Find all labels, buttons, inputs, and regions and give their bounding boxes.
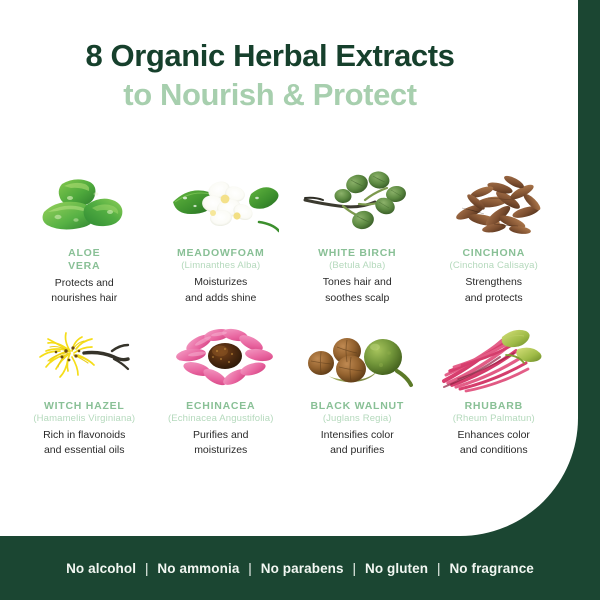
ingredient-card-rhubarb: RHUBARB (Rheum Palmatun) Enhances color … (426, 321, 563, 459)
page-title: 8 Organic Herbal Extracts to Nourish & P… (0, 38, 540, 113)
ingredient-grid: ALOE VERA Protects and nourishes hair (16, 168, 562, 459)
ingredient-benefit: Protects and nourishes hair (51, 276, 117, 306)
claim-separator: | (348, 561, 362, 576)
ingredient-row: WITCH HAZEL (Hamamelis Virginiana) Rich … (16, 321, 562, 459)
ingredient-card-echinacea: ECHINACEA (Echinacea Angustifolia) Purif… (153, 321, 290, 459)
meadowfoam-flower-image (163, 168, 279, 242)
ingredient-benefit-line1: Enhances color (458, 429, 530, 441)
ingredient-benefit-line1: Moisturizes (194, 276, 247, 288)
ingredient-benefit-line1: Purifies and (193, 429, 248, 441)
ingredient-card-witch-hazel: WITCH HAZEL (Hamamelis Virginiana) Rich … (16, 321, 153, 459)
ingredient-benefit-line2: and essential oils (44, 444, 125, 456)
ingredient-card-black-walnut: BLACK WALNUT (Juglans Regia) Intensifies… (289, 321, 426, 459)
ingredient-latin-name: (Limnanthes Alba) (181, 260, 260, 272)
ingredient-benefit: Intensifies color and purifies (321, 428, 394, 458)
ingredient-row: ALOE VERA Protects and nourishes hair (16, 168, 562, 307)
ingredient-benefit-line2: nourishes hair (51, 292, 117, 304)
ingredient-name: ECHINACEA (186, 400, 255, 413)
ingredient-name: BLACK WALNUT (310, 400, 404, 413)
ingredient-latin-name: (Echinacea Angustifolia) (168, 413, 274, 425)
echinacea-flower-image (163, 321, 279, 395)
ingredient-benefit: Purifies and moisturizes (193, 428, 248, 458)
ingredient-latin-name: (Betula Alba) (329, 260, 385, 272)
ingredient-name-line1: ALOE (68, 247, 100, 259)
ingredient-card-cinchona: CINCHONA (Cinchona Calisaya) Strengthens… (426, 168, 563, 307)
ingredient-benefit-line1: Protects and (55, 277, 114, 289)
claim-separator: | (432, 561, 446, 576)
content-card: 8 Organic Herbal Extracts to Nourish & P… (0, 0, 578, 536)
claim-no-alcohol: No alcohol (66, 561, 136, 576)
ingredient-name: WHITE BIRCH (318, 247, 396, 260)
black-walnut-image (299, 321, 415, 395)
footer-band: No alcohol | No ammonia | No parabens | … (0, 536, 600, 600)
ingredient-card-white-birch: WHITE BIRCH (Betula Alba) Tones hair and… (289, 168, 426, 307)
ingredient-card-aloe-vera: ALOE VERA Protects and nourishes hair (16, 168, 153, 307)
ingredient-benefit-line2: and conditions (460, 444, 528, 456)
cinchona-bark-image (436, 168, 552, 242)
ingredient-benefit-line2: and adds shine (185, 292, 256, 304)
ingredient-name: WITCH HAZEL (44, 400, 125, 413)
ingredient-benefit: Rich in flavonoids and essential oils (43, 428, 125, 458)
ingredient-name: ALOE VERA (68, 247, 100, 273)
ingredient-latin-name: (Cinchona Calisaya) (450, 260, 538, 272)
claim-no-ammonia: No ammonia (157, 561, 239, 576)
ingredient-benefit-line2: and protects (465, 292, 523, 304)
ingredient-benefit: Tones hair and soothes scalp (323, 275, 392, 305)
ingredient-benefit-line1: Tones hair and (323, 276, 392, 288)
ingredient-benefit-line1: Rich in flavonoids (43, 429, 125, 441)
ingredient-name: CINCHONA (462, 247, 525, 260)
white-birch-branch-image (299, 168, 415, 242)
rhubarb-stalks-image (436, 321, 552, 395)
claim-no-fragrance: No fragrance (449, 561, 533, 576)
title-line-secondary: to Nourish & Protect (0, 77, 540, 114)
ingredient-name: MEADOWFOAM (177, 247, 264, 260)
title-line-primary: 8 Organic Herbal Extracts (0, 38, 540, 75)
ingredient-latin-name: (Rheum Palmatun) (453, 413, 535, 425)
ingredient-name: RHUBARB (465, 400, 523, 413)
ingredient-latin-name: (Hamamelis Virginiana) (33, 413, 135, 425)
claim-no-parabens: No parabens (261, 561, 344, 576)
ingredient-benefit-line2: soothes scalp (325, 292, 389, 304)
ingredient-benefit-line2: moisturizes (194, 444, 247, 456)
footer-claims-list: No alcohol | No ammonia | No parabens | … (66, 561, 534, 576)
ingredient-benefit: Strengthens and protects (465, 275, 523, 305)
ingredient-benefit-line1: Strengthens (465, 276, 522, 288)
claim-no-gluten: No gluten (365, 561, 428, 576)
ingredient-card-meadowfoam: MEADOWFOAM (Limnanthes Alba) Moisturizes… (153, 168, 290, 307)
claim-separator: | (140, 561, 154, 576)
ingredient-benefit: Enhances color and conditions (458, 428, 530, 458)
aloe-vera-image (26, 168, 142, 242)
claim-separator: | (243, 561, 257, 576)
ingredient-latin-name: (Juglans Regia) (323, 413, 392, 425)
ingredient-name-line2: VERA (68, 260, 100, 272)
witch-hazel-flower-image (26, 321, 142, 395)
ingredient-benefit: Moisturizes and adds shine (185, 275, 256, 305)
ingredient-benefit-line1: Intensifies color (321, 429, 394, 441)
ingredient-benefit-line2: and purifies (330, 444, 384, 456)
infographic-root: 8 Organic Herbal Extracts to Nourish & P… (0, 0, 600, 600)
